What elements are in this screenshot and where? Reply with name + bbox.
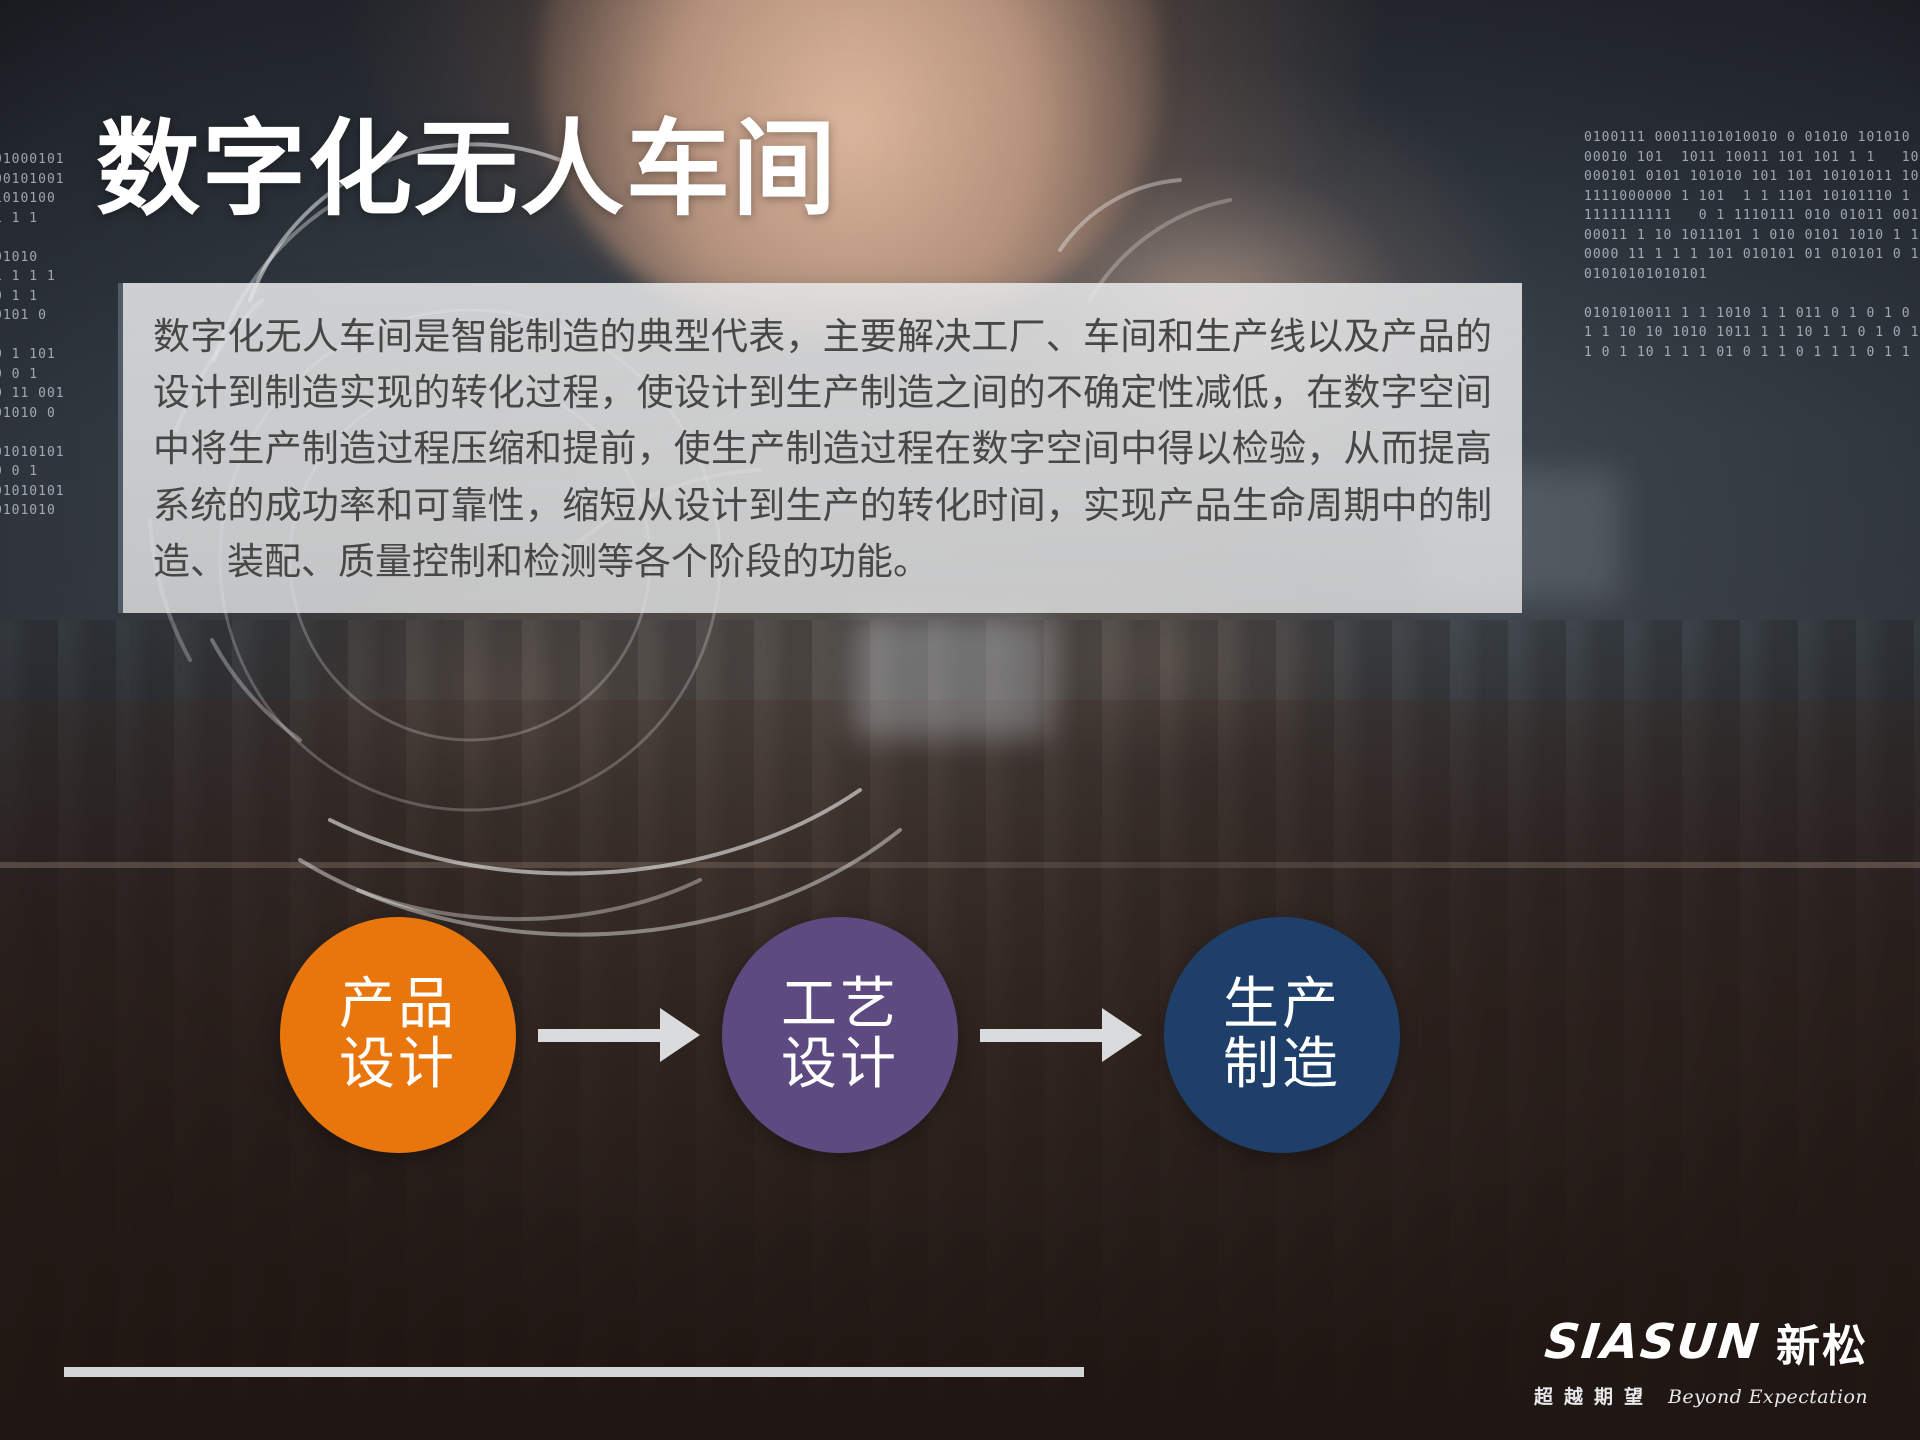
- arrow-right-icon-1: [538, 1028, 700, 1042]
- description-card: 数字化无人车间是智能制造的典型代表，主要解决工厂、车间和生产线以及产品的设计到制…: [118, 283, 1522, 613]
- arrow-shaft: [538, 1029, 662, 1042]
- background-horizontal-light-band: [0, 862, 1920, 868]
- arrow-head: [1102, 1008, 1142, 1062]
- flow-node-product-design-line1: 产品: [339, 975, 457, 1035]
- flow-node-production-manufacturing-line1: 生产: [1223, 975, 1341, 1035]
- description-paragraph: 数字化无人车间是智能制造的典型代表，主要解决工厂、车间和生产线以及产品的设计到制…: [153, 309, 1492, 590]
- page-title: 数字化无人车间: [96, 112, 838, 226]
- logo-tagline-chinese: 超越期望: [1534, 1382, 1654, 1409]
- flow-node-process-design-line2: 设计: [781, 1035, 899, 1095]
- flow-node-production-manufacturing[interactable]: 生产 制造: [1164, 917, 1400, 1153]
- flow-node-production-manufacturing-line2: 制造: [1223, 1035, 1341, 1095]
- flow-node-product-design[interactable]: 产品 设计: [280, 917, 516, 1153]
- logo-tagline-english: Beyond Expectation: [1668, 1386, 1868, 1408]
- arrow-head: [660, 1008, 700, 1062]
- siasun-logo: SIASUN 新松 超越期望 Beyond Expectation: [1448, 1310, 1868, 1420]
- logo-latin-wordmark: SIASUN: [1542, 1314, 1763, 1370]
- footer-divider-rule: [64, 1367, 1084, 1377]
- logo-wordmark-row: SIASUN 新松: [1545, 1310, 1868, 1374]
- arrow-right-icon-2: [980, 1028, 1142, 1042]
- flow-node-process-design[interactable]: 工艺 设计: [722, 917, 958, 1153]
- logo-tagline: 超越期望 Beyond Expectation: [1534, 1382, 1868, 1409]
- slide-root: 01000101 00101001 1010100 1 1 1 01010 1 …: [0, 0, 1920, 1440]
- flow-node-product-design-line2: 设计: [339, 1035, 457, 1095]
- logo-chinese-wordmark: 新松: [1776, 1310, 1868, 1374]
- arrow-shaft: [980, 1029, 1104, 1042]
- flow-node-process-design-line1: 工艺: [781, 975, 899, 1035]
- process-flow-diagram: 产品 设计 工艺 设计 生产 制造: [280, 880, 1400, 1190]
